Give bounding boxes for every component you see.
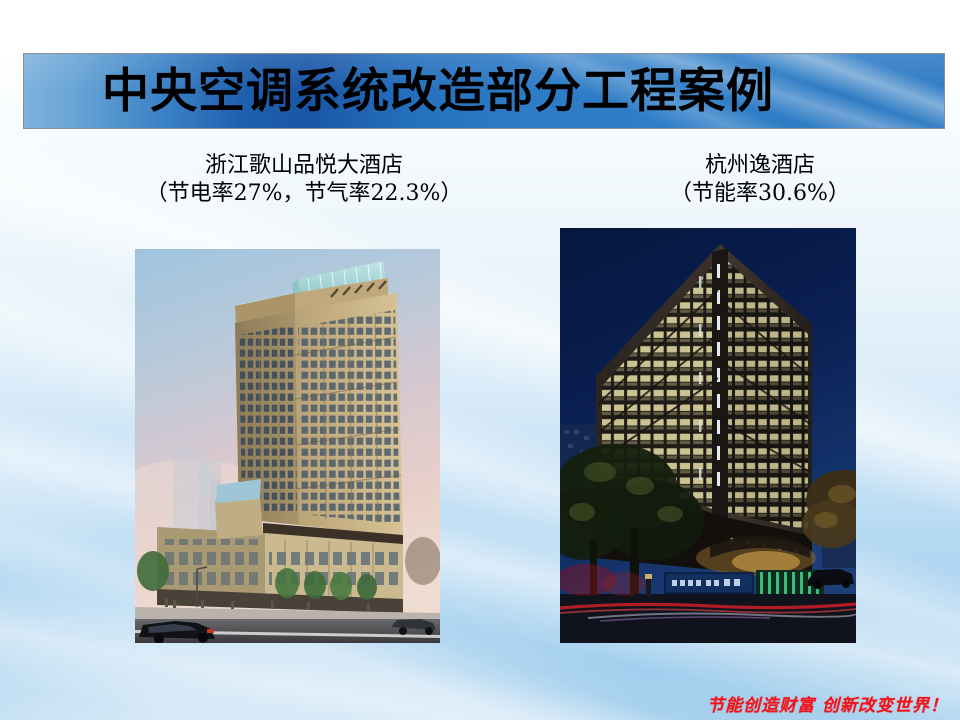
slide-canvas: 中央空调系统改造部分工程案例 浙江歌山品悦大酒店 （节电率27%，节气率22.3… xyxy=(0,0,960,720)
case-caption-right: 杭州逸酒店 （节能率30.6%） xyxy=(600,152,920,208)
page-title: 中央空调系统改造部分工程案例 xyxy=(102,68,774,115)
case-caption-left: 浙江歌山品悦大酒店 （节电率27%，节气率22.3%） xyxy=(104,152,504,208)
footer-slogan: 节能创造财富 创新改变世界！ xyxy=(707,691,948,716)
case-metrics-left: （节电率27%，节气率22.3%） xyxy=(104,180,504,208)
case-name-right: 杭州逸酒店 xyxy=(600,152,920,180)
title-banner: 中央空调系统改造部分工程案例 xyxy=(23,53,945,129)
case-image-left xyxy=(135,249,440,643)
case-metrics-right: （节能率30.6%） xyxy=(600,180,920,208)
case-name-left: 浙江歌山品悦大酒店 xyxy=(104,152,504,180)
case-image-right xyxy=(560,228,856,643)
case-image-left-graphic xyxy=(135,249,440,643)
case-image-right-graphic xyxy=(560,228,856,643)
